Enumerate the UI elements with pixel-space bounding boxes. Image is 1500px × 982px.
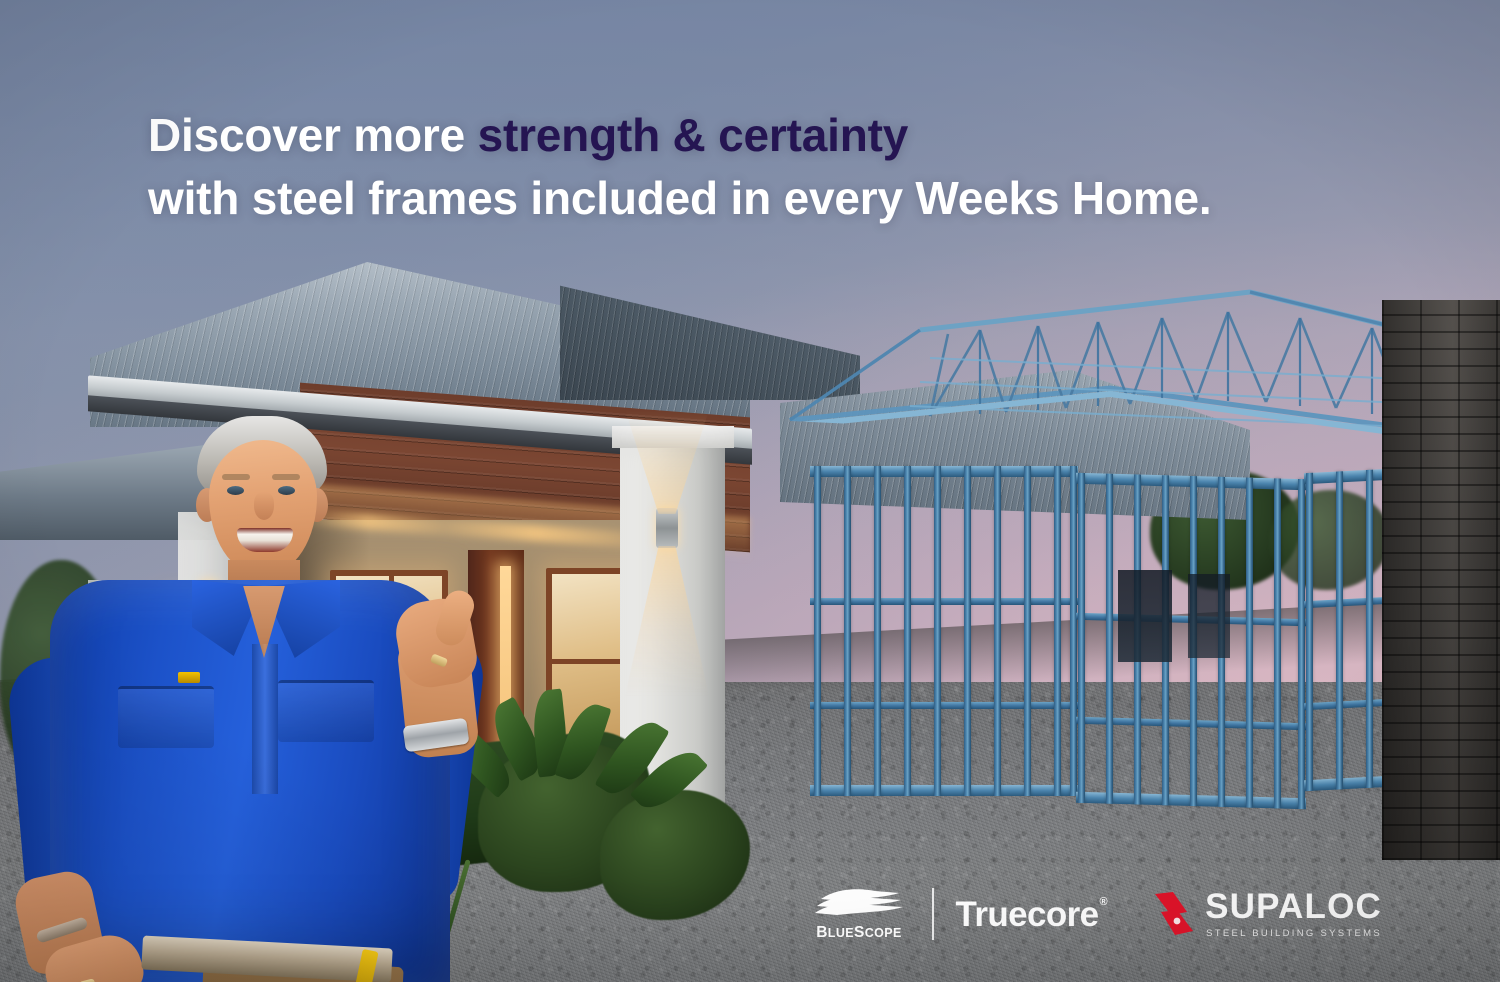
logo-truecore[interactable]: Truecore ® <box>956 897 1108 932</box>
logo-bluescope[interactable]: BLUESCOPE <box>810 887 908 942</box>
presenter-eye-left <box>227 486 244 495</box>
wall-frame-left <box>810 466 1078 796</box>
presenter-brow-right <box>272 474 300 480</box>
presenter-nose <box>254 492 274 520</box>
presenter-figure <box>6 404 486 982</box>
truecore-wordmark: Truecore <box>956 897 1099 932</box>
frame-interior-void <box>1118 570 1172 662</box>
presenter-eye-right <box>278 486 295 495</box>
partner-logo-bar: BLUESCOPE Truecore ® SUPALOC STEEL BUILD… <box>810 874 1382 954</box>
supaloc-red-chevron-icon <box>1153 890 1199 938</box>
bluescope-wordmark: BLUESCOPE <box>816 924 902 942</box>
logo-supaloc[interactable]: SUPALOC STEEL BUILDING SYSTEMS <box>1153 889 1382 939</box>
supaloc-tagline: STEEL BUILDING SYSTEMS <box>1205 928 1382 939</box>
presenter-shirt <box>50 580 450 982</box>
headline-line-2: with steel frames included in every Week… <box>148 167 1348 230</box>
supaloc-text-block: SUPALOC STEEL BUILDING SYSTEMS <box>1205 889 1382 939</box>
headline-line-1-accent: strength & certainty <box>478 109 909 161</box>
steel-coil-waves-icon <box>813 887 905 921</box>
supaloc-wordmark: SUPALOC <box>1205 889 1382 924</box>
shirt-pocket-right <box>278 680 374 742</box>
headline-line-1-prefix: Discover more <box>148 109 478 161</box>
brick-wall-shading <box>1382 300 1500 860</box>
headline: Discover more strength & certainty with … <box>148 104 1348 229</box>
shirt-brand-badge <box>178 672 200 683</box>
presenter-brow-left <box>222 474 250 480</box>
logo-divider <box>932 888 934 940</box>
shirt-pocket-left <box>118 686 214 748</box>
frame-interior-void <box>1188 574 1230 658</box>
shirt-placket <box>252 644 278 794</box>
advertising-banner: Discover more strength & certainty with … <box>0 0 1500 982</box>
headline-line-1: Discover more strength & certainty <box>148 104 1348 167</box>
truecore-registered-mark: ® <box>1100 897 1108 908</box>
wall-light-main <box>656 508 678 548</box>
